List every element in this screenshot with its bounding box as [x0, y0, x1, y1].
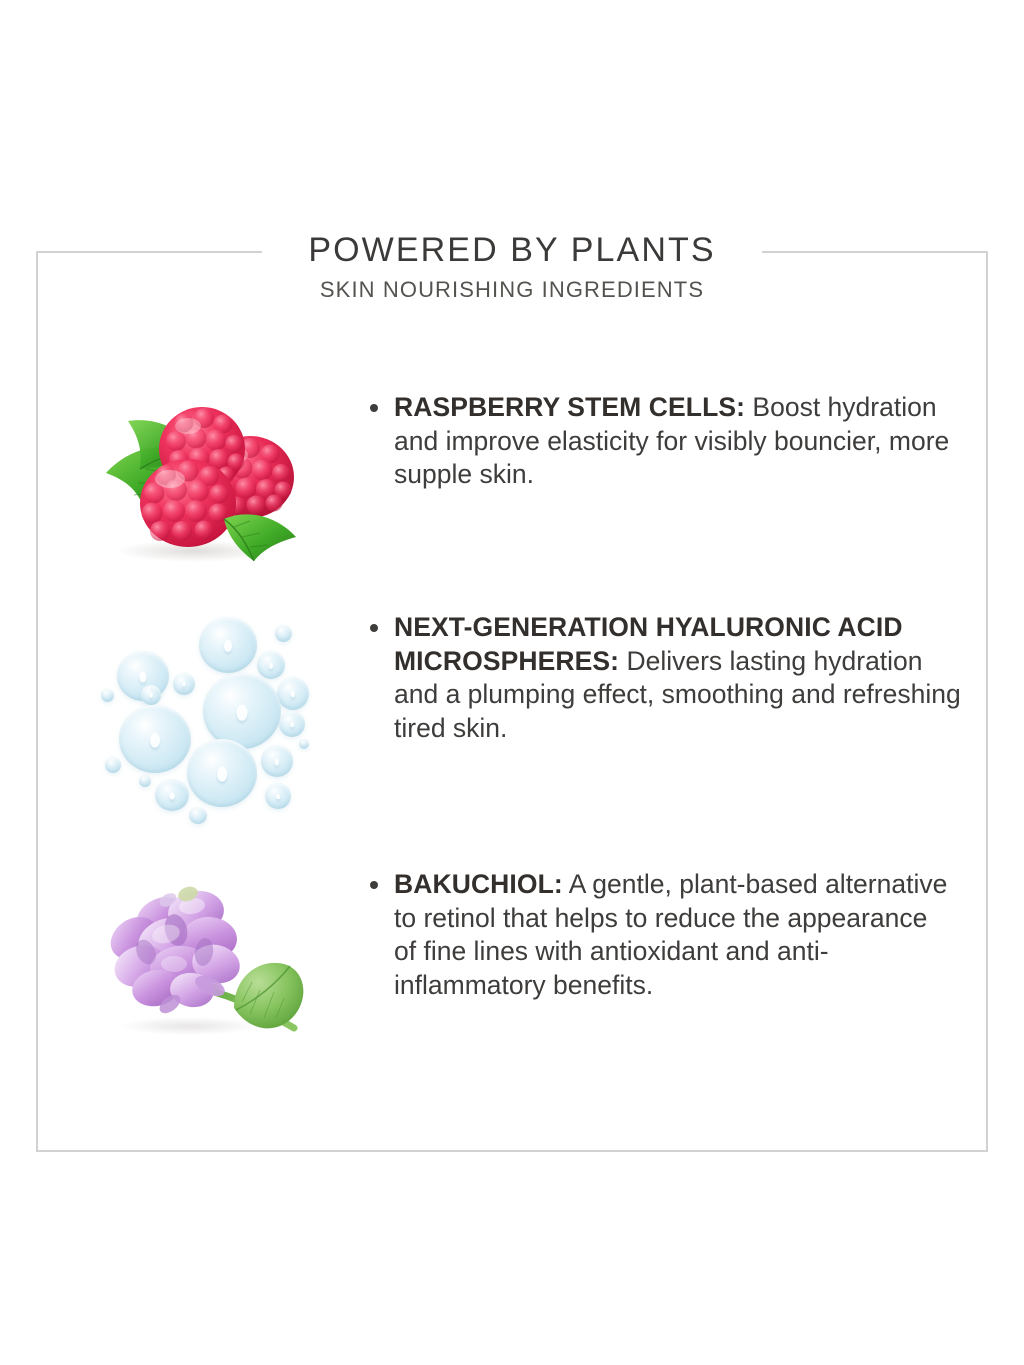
raspberry-art-cell: [36, 385, 356, 566]
ingredient-name: RASPBERRY STEM CELLS:: [394, 392, 745, 422]
droplet: [141, 685, 161, 705]
droplet: [275, 625, 292, 642]
ingredient-bullet-raspberry: RASPBERRY STEM CELLS: Boost hydration an…: [356, 391, 954, 492]
droplet: [277, 677, 309, 710]
ingredient-name: BAKUCHIOL:: [394, 869, 563, 899]
flower-art-cell: [36, 862, 356, 1038]
bullet-dot-icon: [370, 624, 378, 632]
title-border-gap: [262, 243, 762, 261]
droplet: [139, 775, 151, 787]
droplet: [119, 705, 191, 773]
raspberry-text-cell: RASPBERRY STEM CELLS: Boost hydration an…: [356, 385, 988, 492]
droplet: [189, 807, 207, 824]
droplet: [173, 673, 195, 695]
droplets-art-cell: [36, 605, 356, 836]
ingredient-bullet-bakuchiol: BAKUCHIOL: A gentle, plant-based alterna…: [356, 868, 954, 1002]
bakuchiol-flower-icon: [84, 868, 309, 1038]
droplet: [299, 739, 309, 749]
droplet: [257, 651, 285, 679]
droplet: [203, 673, 281, 749]
ingredient-bullet-hyaluronic: NEXT-GENERATION HYALURONIC ACID MICROSPH…: [356, 611, 969, 745]
water-droplets-icon: [81, 611, 311, 836]
ingredient-row-hyaluronic: NEXT-GENERATION HYALURONIC ACID MICROSPH…: [36, 605, 988, 836]
ingredient-row-bakuchiol: BAKUCHIOL: A gentle, plant-based alterna…: [36, 862, 988, 1038]
bullet-dot-icon: [370, 404, 378, 412]
ingredient-row-raspberry: RASPBERRY STEM CELLS: Boost hydration an…: [36, 385, 988, 566]
hyaluronic-text-cell: NEXT-GENERATION HYALURONIC ACID MICROSPH…: [356, 605, 988, 745]
droplet: [199, 617, 257, 673]
droplet: [279, 711, 305, 737]
flower-shadow: [119, 1017, 259, 1035]
bullet-dot-icon: [370, 881, 378, 889]
raspberry-icon: [84, 391, 309, 566]
flower-leaf: [234, 963, 303, 1028]
raspberry-berry-front: [140, 459, 236, 547]
droplet: [187, 739, 257, 807]
droplet: [101, 689, 114, 702]
droplet: [265, 783, 291, 809]
bakuchiol-text-cell: BAKUCHIOL: A gentle, plant-based alterna…: [356, 862, 988, 1002]
droplet: [105, 757, 121, 773]
droplet: [155, 779, 189, 811]
droplet: [261, 745, 293, 777]
